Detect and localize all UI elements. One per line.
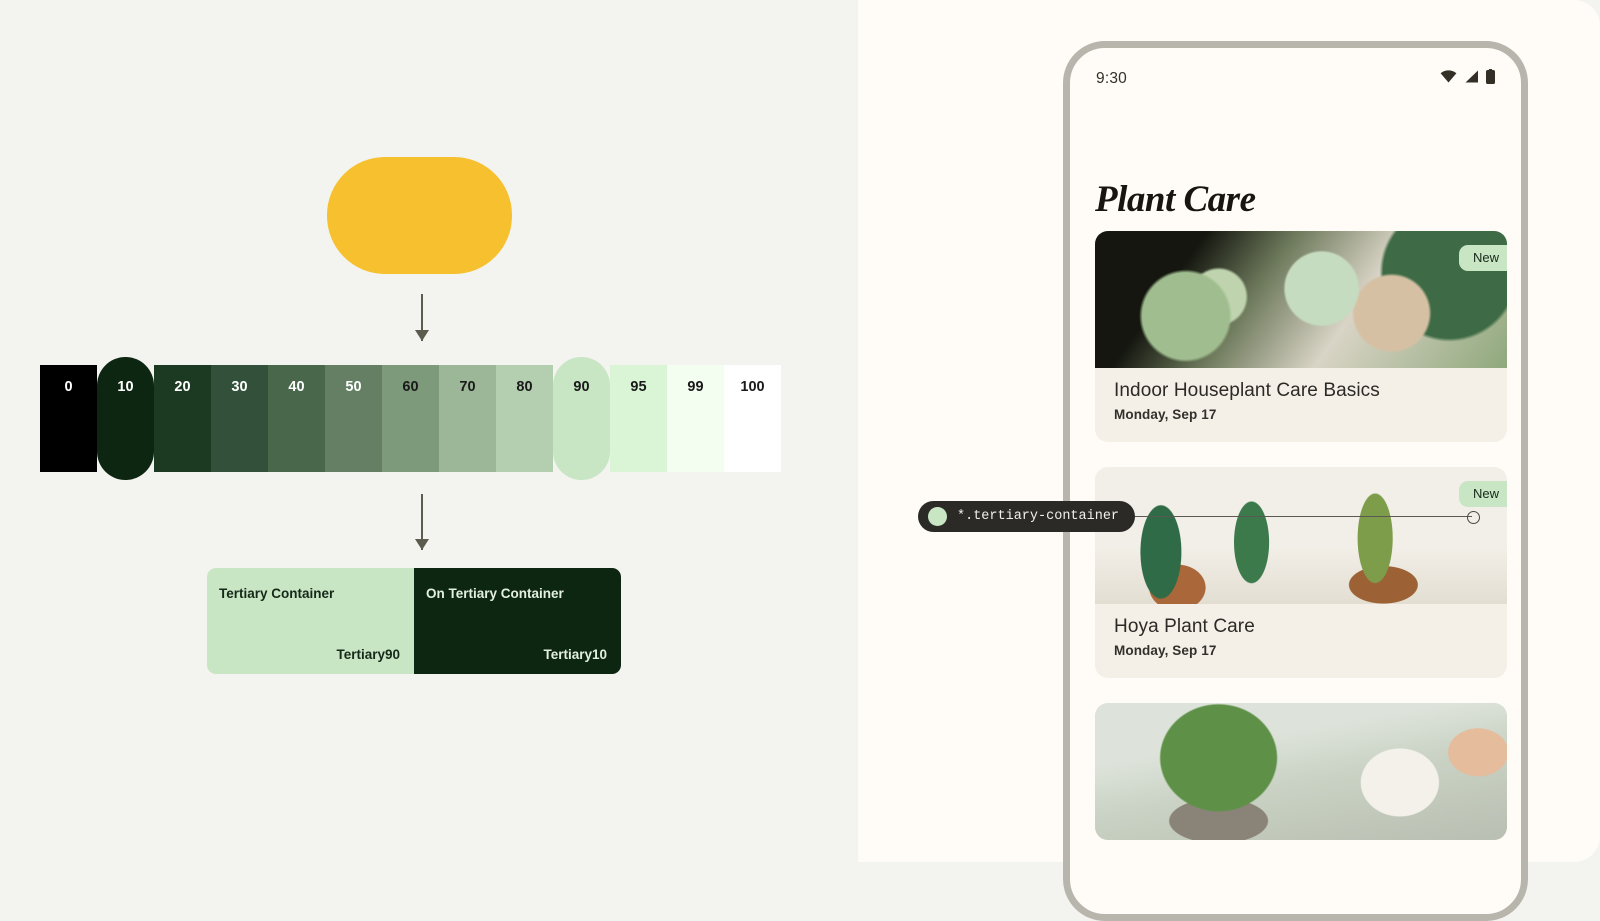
status-bar-icons xyxy=(1440,69,1495,89)
tone-swatch-60[interactable]: 60 xyxy=(382,365,439,472)
tone-swatch-50[interactable]: 50 xyxy=(325,365,382,472)
tone-swatch-95[interactable]: 95 xyxy=(610,365,667,472)
tonal-palette-panel: 01020304050607080909599100 Tertiary Cont… xyxy=(0,0,858,862)
tone-swatch-label: 50 xyxy=(345,380,361,472)
tone-swatch-label: 90 xyxy=(573,372,589,480)
tone-swatch-label: 100 xyxy=(740,380,764,472)
tone-swatch-0[interactable]: 0 xyxy=(40,365,97,472)
tone-swatch-label: 99 xyxy=(687,380,703,472)
card-image xyxy=(1095,703,1507,840)
phone-mockup: 9:30 Plant Care NewIndoor Houseplant Car… xyxy=(1063,41,1528,921)
arrow-down-icon-2 xyxy=(414,494,430,550)
container-demo-cell-2[interactable]: On Tertiary ContainerTertiary10 xyxy=(414,568,621,674)
container-role-label: Tertiary Container xyxy=(219,586,400,601)
tooltip-token-label: *.tertiary-container xyxy=(957,509,1119,524)
tonal-palette-ramp: 01020304050607080909599100 xyxy=(40,365,781,472)
card-title: Indoor Houseplant Care Basics xyxy=(1114,380,1488,402)
tone-swatch-10[interactable]: 10 xyxy=(97,357,154,480)
card-title: Hoya Plant Care xyxy=(1114,616,1488,638)
card-image: New xyxy=(1095,231,1507,368)
arrow-head xyxy=(415,539,429,550)
container-role-label: On Tertiary Container xyxy=(426,586,607,601)
tone-swatch-30[interactable]: 30 xyxy=(211,365,268,472)
card-date: Monday, Sep 17 xyxy=(1114,643,1488,658)
container-tone-label: Tertiary90 xyxy=(219,647,400,662)
tone-swatch-label: 60 xyxy=(402,380,418,472)
article-card[interactable] xyxy=(1095,703,1507,840)
tone-swatch-100[interactable]: 100 xyxy=(724,365,781,472)
tone-swatch-90[interactable]: 90 xyxy=(553,357,610,480)
source-color-swatch[interactable] xyxy=(327,157,512,274)
article-card-list: NewIndoor Houseplant Care BasicsMonday, … xyxy=(1095,231,1521,865)
tone-swatch-70[interactable]: 70 xyxy=(439,365,496,472)
tone-swatch-40[interactable]: 40 xyxy=(268,365,325,472)
design-system-showcase: 01020304050607080909599100 Tertiary Cont… xyxy=(0,0,1600,862)
battery-icon xyxy=(1486,69,1495,89)
page-title: Plant Care xyxy=(1095,178,1256,221)
status-badge[interactable]: New xyxy=(1459,245,1507,271)
tone-swatch-label: 30 xyxy=(231,380,247,472)
status-badge[interactable]: New xyxy=(1459,481,1507,507)
token-tooltip[interactable]: *.tertiary-container xyxy=(918,501,1135,532)
article-card[interactable]: NewIndoor Houseplant Care BasicsMonday, … xyxy=(1095,231,1507,442)
tone-swatch-20[interactable]: 20 xyxy=(154,365,211,472)
tone-swatch-label: 20 xyxy=(174,380,190,472)
tone-swatch-label: 0 xyxy=(64,380,72,472)
card-body: Hoya Plant CareMonday, Sep 17 xyxy=(1095,604,1507,678)
tone-swatch-80[interactable]: 80 xyxy=(496,365,553,472)
container-demo-cell-1[interactable]: Tertiary ContainerTertiary90 xyxy=(207,568,414,674)
card-image: New xyxy=(1095,467,1507,604)
card-body: Indoor Houseplant Care BasicsMonday, Sep… xyxy=(1095,368,1507,442)
article-card[interactable]: NewHoya Plant CareMonday, Sep 17 xyxy=(1095,467,1507,678)
tone-swatch-label: 80 xyxy=(516,380,532,472)
tooltip-connector-endpoint xyxy=(1467,511,1480,524)
container-tone-label: Tertiary10 xyxy=(426,647,607,662)
tertiary-container-demo: Tertiary ContainerTertiary90On Tertiary … xyxy=(207,568,621,674)
status-bar: 9:30 xyxy=(1070,48,1521,110)
cell-signal-icon xyxy=(1464,70,1479,88)
tone-swatch-label: 40 xyxy=(288,380,304,472)
tone-swatch-99[interactable]: 99 xyxy=(667,365,724,472)
card-date: Monday, Sep 17 xyxy=(1114,407,1488,422)
tone-swatch-label: 95 xyxy=(630,380,646,472)
status-bar-clock: 9:30 xyxy=(1096,70,1127,88)
tone-swatch-label: 70 xyxy=(459,380,475,472)
arrow-head xyxy=(415,330,429,341)
wifi-icon xyxy=(1440,70,1457,88)
tone-swatch-label: 10 xyxy=(117,372,133,480)
arrow-down-icon-1 xyxy=(414,294,430,341)
tooltip-color-swatch-icon xyxy=(928,507,947,526)
